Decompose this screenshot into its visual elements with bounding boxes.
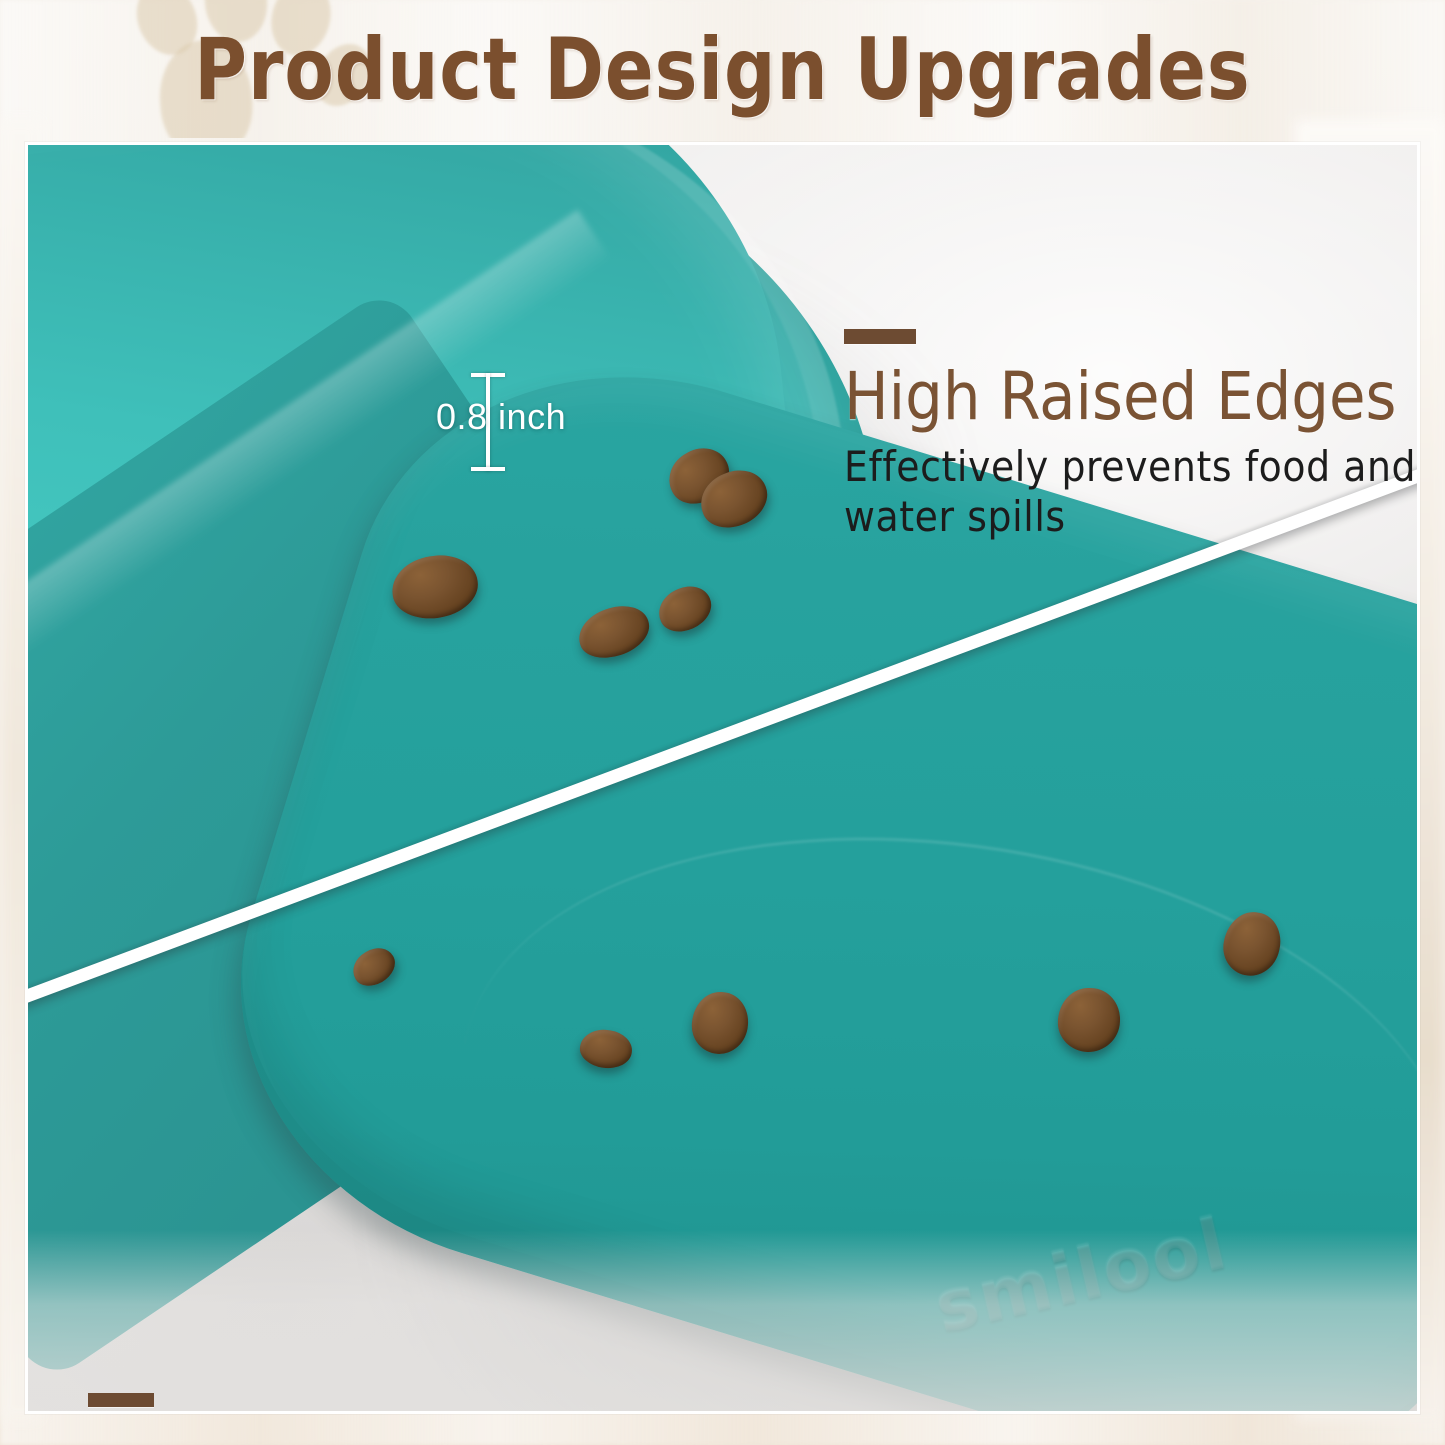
product-photo-frame: smilool 0.8 inch High Raised Edges Effec… [25,142,1420,1414]
bottom-text-scrim [28,1230,1417,1411]
callout-subtext-high-raised-edges: Effectively prevents food and water spil… [844,442,1417,542]
callout-high-raised-edges: High Raised Edges Effectively prevents f… [844,329,1417,542]
accent-dash-icon [844,329,916,344]
product-photo: smilool 0.8 inch High Raised Edges Effec… [28,145,1417,1411]
header-banner: Product Design Upgrades [0,0,1445,138]
dimension-label: 0.8 inch [436,397,566,437]
callout-keeping-floor-clean: Keeping the floor clean Minimizes time s… [88,1393,1013,1411]
accent-dash-icon [88,1393,154,1407]
callout-heading-high-raised-edges: High Raised Edges [844,360,1417,434]
infographic-canvas: Product Design Upgrades smilool [0,0,1445,1445]
page-title: Product Design Upgrades [51,24,1395,116]
dimension-cap-bottom-icon [471,467,505,471]
